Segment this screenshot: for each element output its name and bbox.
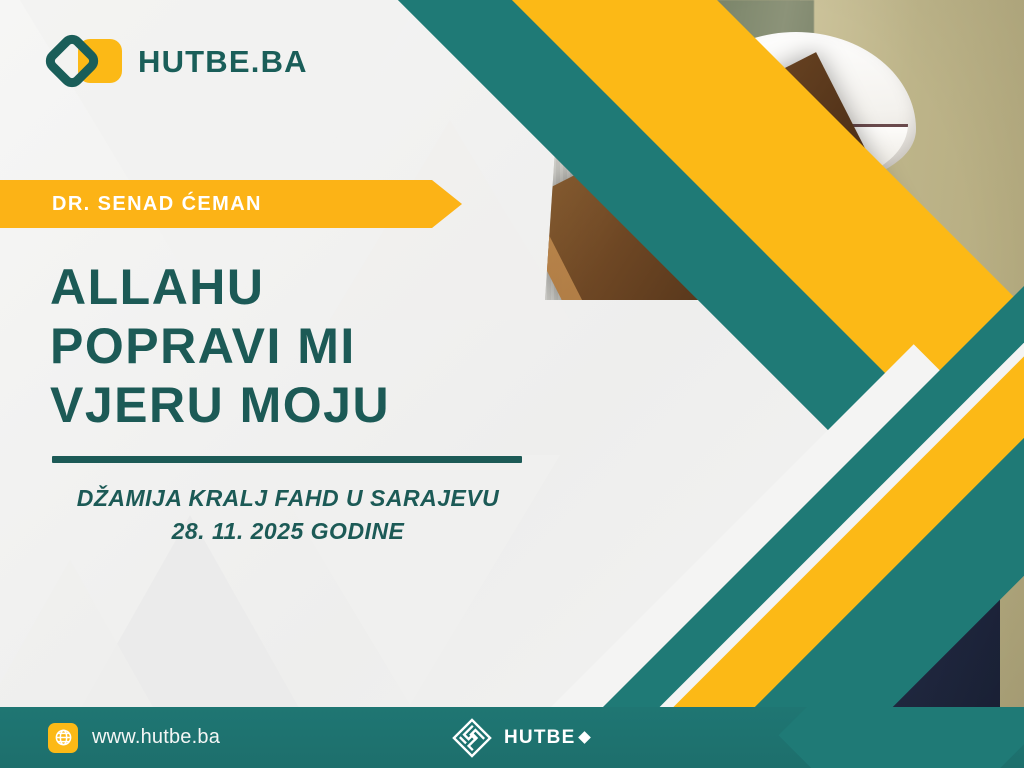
islamic-knot-icon [452, 718, 492, 758]
content-column: HUTBE.BA DR. SENAD ĆEMAN ALLAHU POPRAVI … [0, 0, 540, 712]
title-divider [52, 456, 522, 463]
slide-canvas: HUTBE.BA DR. SENAD ĆEMAN ALLAHU POPRAVI … [0, 0, 1024, 768]
speaker-name: DR. SENAD ĆEMAN [0, 193, 262, 216]
page-title: ALLAHU POPRAVI MI VJERU MOJU [50, 258, 390, 435]
brand-logo-text: HUTBE.BA [138, 44, 308, 80]
brand-logo[interactable]: HUTBE.BA [48, 33, 308, 91]
globe-icon [48, 723, 78, 753]
footer-decor-wedge [778, 707, 1024, 768]
event-subtitle: DŽAMIJA KRALJ FAHD U SARAJEVU 28. 11. 20… [52, 482, 524, 549]
footer-brand-text: HUTBE [504, 727, 589, 749]
footer-website-link[interactable]: www.hutbe.ba [48, 707, 220, 768]
footer-url-text: www.hutbe.ba [92, 726, 220, 749]
footer-brand-label: HUTBE [504, 727, 575, 749]
footer-brand[interactable]: HUTBE [452, 707, 589, 768]
footer-bar: www.hutbe.ba HUTBE [0, 707, 1024, 768]
brand-diamond-icon [579, 731, 592, 744]
diamond-logo-icon [48, 33, 122, 91]
speaker-banner: DR. SENAD ĆEMAN [0, 180, 462, 228]
